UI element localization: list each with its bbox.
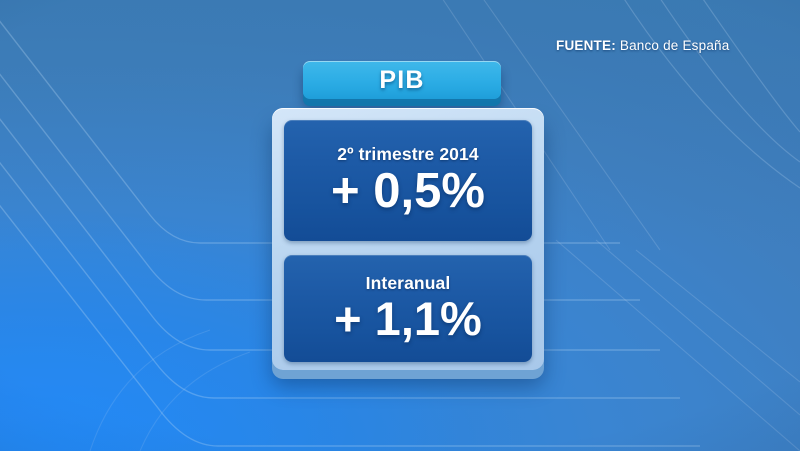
annual-caption: Interanual bbox=[366, 275, 451, 293]
source-credit: FUENTE: Banco de España bbox=[556, 38, 729, 53]
source-name: Banco de España bbox=[620, 38, 730, 53]
quarterly-caption: 2º trimestre 2014 bbox=[337, 146, 478, 164]
pib-header-label: PIB bbox=[379, 66, 424, 95]
stats-card: 2º trimestre 2014 + 0,5% Interanual + 1,… bbox=[272, 108, 544, 370]
source-label: FUENTE: bbox=[556, 38, 616, 53]
pib-header-tab: PIB bbox=[303, 61, 501, 99]
annual-value: + 1,1% bbox=[334, 295, 482, 344]
infographic-stage: FUENTE: Banco de España PIB 2º trimestre… bbox=[0, 0, 800, 451]
quarterly-panel: 2º trimestre 2014 + 0,5% bbox=[284, 120, 532, 241]
quarterly-value: + 0,5% bbox=[331, 166, 485, 217]
annual-panel: Interanual + 1,1% bbox=[284, 255, 532, 362]
